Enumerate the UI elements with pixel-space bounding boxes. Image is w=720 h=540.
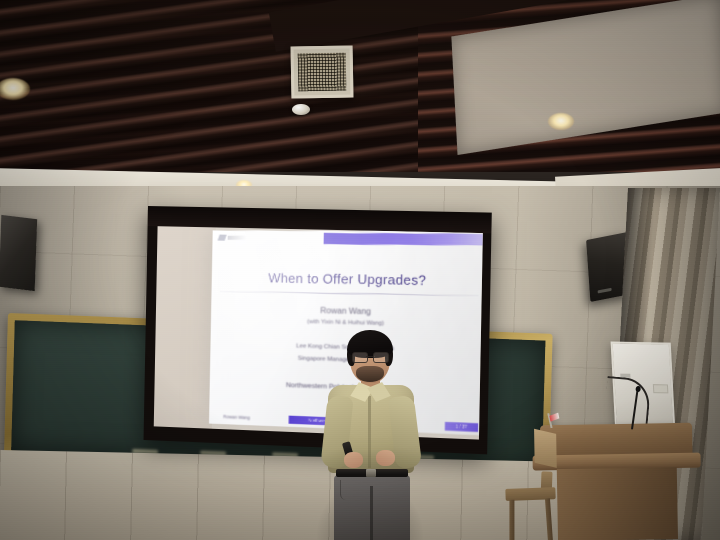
- slide-footer-author: Rowan Wang: [223, 414, 250, 420]
- podium-edge: [534, 429, 557, 468]
- trouser-pocket: [340, 480, 355, 500]
- lecture-hall-photo: When to Offer Upgrades? Rowan Wang (with…: [0, 0, 720, 540]
- slide-accent-bar: [324, 233, 483, 246]
- smoke-detector-icon: [292, 104, 310, 115]
- glasses-icon: [352, 352, 389, 361]
- podium-body: [557, 467, 678, 540]
- wainscot-seams: [0, 450, 560, 540]
- chair: [505, 475, 559, 540]
- chair-leg: [545, 498, 553, 540]
- flipchart-note: [653, 384, 669, 393]
- smu-logo-icon: [219, 233, 250, 242]
- presenter: [316, 330, 424, 540]
- slide-coauthors: (with Yixin Ni & Huihui Wang): [211, 317, 483, 329]
- presenter-beard: [356, 366, 384, 382]
- wainscot-panel: [0, 450, 560, 540]
- wall-speaker-left: [0, 215, 37, 291]
- slide-footer-page: 1 / 37: [445, 422, 478, 432]
- screen-blank-margin: [154, 226, 216, 429]
- vent-icon: [291, 45, 354, 98]
- presenter-hand-right: [376, 450, 395, 466]
- presenter-hand-left: [344, 452, 363, 468]
- belt-buckle: [366, 469, 376, 477]
- chair-leg: [509, 500, 514, 540]
- vent-mesh: [298, 53, 347, 92]
- slide-divider: [220, 291, 479, 296]
- slide-title: When to Offer Upgrades?: [212, 271, 483, 289]
- desk-flag-icon: [546, 413, 560, 429]
- ceiling: [0, 0, 720, 172]
- trouser-seam: [370, 486, 373, 540]
- downlight-icon: [548, 113, 574, 130]
- shirt-placket: [368, 396, 371, 468]
- slide-author: Rowan Wang: [211, 304, 483, 319]
